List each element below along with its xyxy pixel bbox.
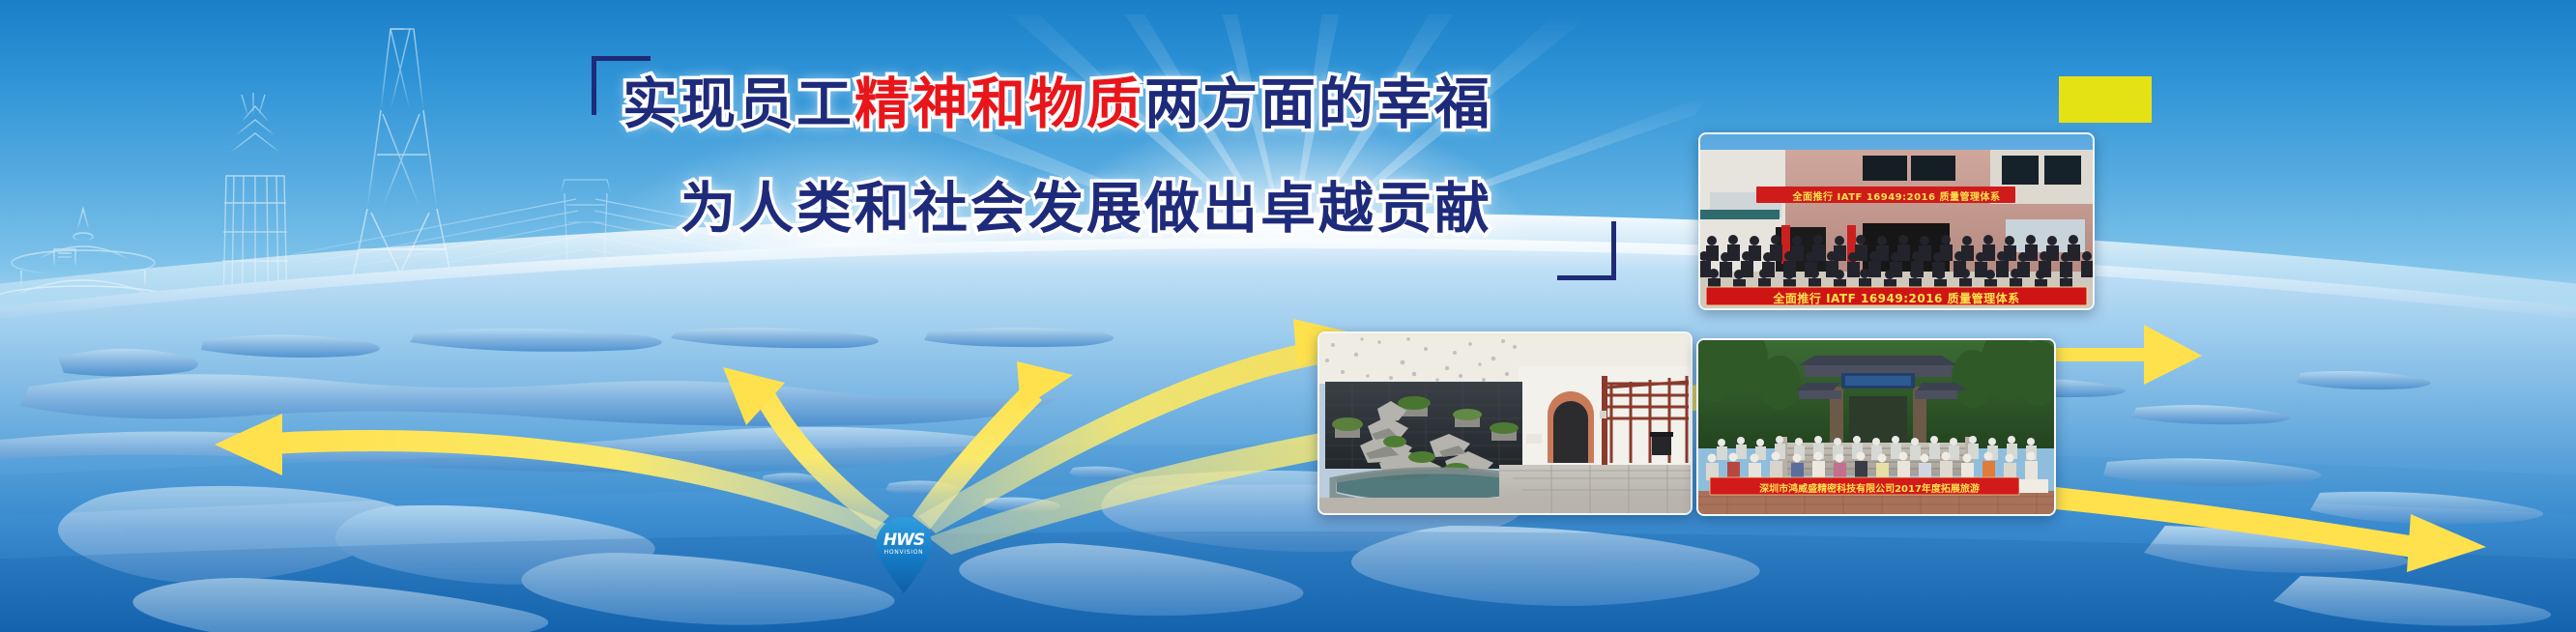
photo-factory-group[interactable]: 全面推行 IATF 16949:2016 质量管理体系 全面推行 IATF 16… bbox=[1698, 132, 2095, 310]
arrow-up-left bbox=[723, 367, 889, 530]
arrow-up-right bbox=[912, 361, 1073, 530]
photo-courtyard-garden-image bbox=[1319, 333, 1691, 513]
corporate-banner: HWS HONVISION 实现员工精神和物质两方面的幸福 为人类和社会发展做出… bbox=[0, 0, 2576, 632]
yellow-accent-block bbox=[2059, 76, 2152, 123]
slogan-line-1-prefix: 实现员工 bbox=[622, 72, 854, 136]
slogan-line-1: 实现员工精神和物质两方面的幸福 bbox=[622, 77, 1492, 132]
photo-team-outing-image bbox=[1698, 340, 2054, 514]
eiffel-tower-icon bbox=[333, 2, 472, 365]
photo-courtyard-garden[interactable] bbox=[1317, 331, 1693, 515]
photo-factory-group-image bbox=[1700, 134, 2093, 308]
arrow-top-right-far bbox=[918, 319, 1351, 533]
map-pin-icon bbox=[874, 517, 934, 594]
arrow-far-left bbox=[215, 414, 899, 547]
bracket-bottom-right-icon bbox=[1557, 221, 1616, 280]
location-pin[interactable]: HWS HONVISION bbox=[874, 517, 934, 594]
temple-of-heaven-icon bbox=[0, 209, 195, 373]
photo-team-outing[interactable]: 深圳市鸿威盛精密科技有限公司2017年度拓展旅游 bbox=[1696, 338, 2056, 516]
slogan-line-1-suffix: 两方面的幸福 bbox=[1144, 72, 1492, 136]
slogan-block: 实现员工精神和物质两方面的幸福 为人类和社会发展做出卓越贡献 bbox=[592, 56, 1616, 280]
slogan-line-1-highlight: 精神和物质 bbox=[854, 72, 1144, 136]
jinmao-tower-icon bbox=[215, 93, 296, 371]
slogan-line-2: 为人类和社会发展做出卓越贡献 bbox=[680, 182, 1492, 237]
